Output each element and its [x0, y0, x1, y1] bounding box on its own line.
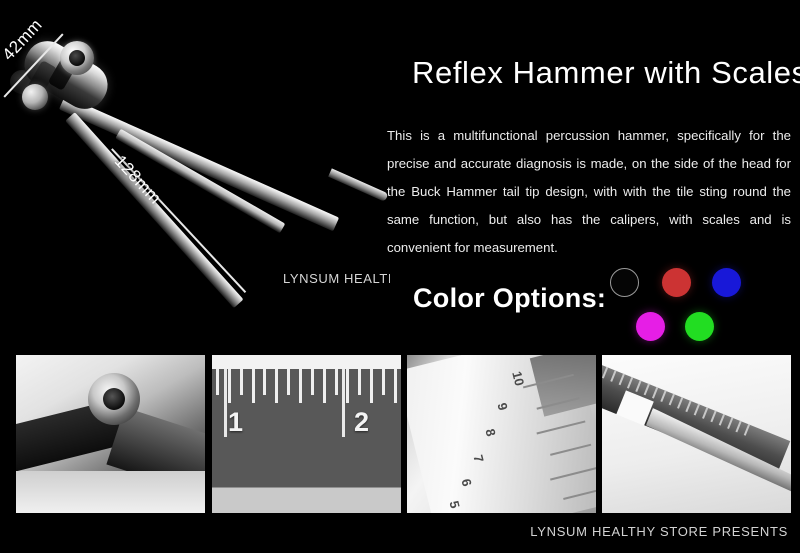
thumb1-screw-icon [88, 373, 140, 425]
thumb2-numeral-2: 2 [354, 407, 369, 438]
thumb2-numeral-1: 1 [228, 407, 243, 438]
product-advertisement-page: 42mm 128mm LYNSUM HEALTHY STORE PRESENTS… [0, 0, 800, 553]
thumb2-major-tick-2 [342, 369, 345, 437]
thumbnail-caliper-tip-closeup[interactable] [602, 355, 791, 513]
thumb1-white-base [16, 471, 205, 513]
hammer-pivot-screw [60, 41, 94, 75]
color-swatch-black[interactable] [610, 268, 639, 297]
thumbnail-engraved-scale-closeup[interactable]: 10 9 8 7 6 5 [407, 355, 596, 513]
color-options-heading: Color Options: [413, 283, 606, 314]
caliper-upper-tip [328, 168, 388, 201]
hero-product-photo: 42mm 128mm LYNSUM HEALTHY STORE PRESENTS [0, 0, 390, 350]
hammer-knob [22, 84, 48, 110]
thumbnail-strip: 1 2 10 9 8 7 6 5 [0, 355, 800, 513]
footer-watermark: LYNSUM HEALTHY STORE PRESENTS [530, 524, 788, 539]
caliper-notch [293, 156, 316, 181]
hero-watermark: LYNSUM HEALTHY STORE PRESENTS [283, 271, 390, 286]
thumb2-tick-marks [212, 369, 401, 405]
thumb2-major-tick-1 [224, 369, 227, 437]
color-swatch-magenta[interactable] [636, 312, 665, 341]
thumbnail-hammer-head-closeup[interactable] [16, 355, 205, 513]
product-description: This is a multifunctional percussion ham… [387, 122, 791, 262]
color-swatch-green[interactable] [685, 312, 714, 341]
thumbnail-ruler-scale-closeup[interactable]: 1 2 [212, 355, 401, 513]
color-swatch-red[interactable] [662, 268, 691, 297]
color-swatch-group [606, 264, 746, 344]
product-title: Reflex Hammer with Scales [412, 55, 800, 91]
color-swatch-blue[interactable] [712, 268, 741, 297]
